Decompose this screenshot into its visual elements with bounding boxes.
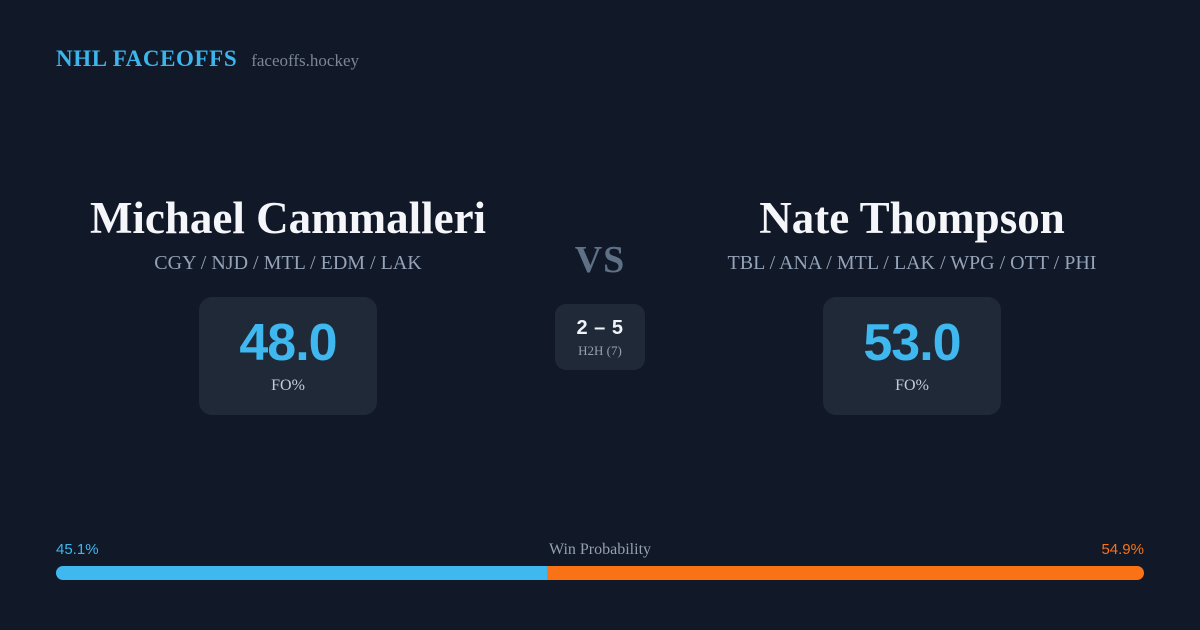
brand-title: NHL FACEOFFS xyxy=(56,46,237,72)
head-to-head-label: H2H (7) xyxy=(578,343,622,359)
matchup-center: VS 2 – 5 H2H (7) xyxy=(500,190,700,370)
vs-label: VS xyxy=(500,237,700,283)
stat-value-right: 53.0 xyxy=(863,316,960,370)
win-probability-bar-left-segment xyxy=(56,566,547,580)
player-name-left: Michael Cammalleri xyxy=(48,190,528,246)
player-teams-left: CGY / NJD / MTL / EDM / LAK xyxy=(48,250,528,276)
player-card-right: Nate Thompson TBL / ANA / MTL / LAK / WP… xyxy=(672,190,1152,415)
win-probability-section: 45.1% Win Probability 54.9% xyxy=(56,540,1144,580)
stat-label-left: FO% xyxy=(271,376,305,396)
win-probability-title: Win Probability xyxy=(549,540,651,560)
stat-label-right: FO% xyxy=(895,376,929,396)
win-probability-labels: 45.1% Win Probability 54.9% xyxy=(56,540,1144,560)
player-name-right: Nate Thompson xyxy=(672,190,1152,246)
head-to-head-box: 2 – 5 H2H (7) xyxy=(555,304,645,370)
win-probability-bar-right-segment xyxy=(547,566,1144,580)
stat-value-left: 48.0 xyxy=(239,316,336,370)
site-header: NHL FACEOFFS faceoffs.hockey xyxy=(56,46,359,72)
stat-box-right: 53.0 FO% xyxy=(823,297,1001,415)
win-probability-bar xyxy=(56,566,1144,580)
matchup-section: Michael Cammalleri CGY / NJD / MTL / EDM… xyxy=(0,190,1200,430)
head-to-head-score: 2 – 5 xyxy=(577,316,624,340)
player-teams-right: TBL / ANA / MTL / LAK / WPG / OTT / PHI xyxy=(672,250,1152,276)
win-probability-right-pct: 54.9% xyxy=(1101,540,1144,560)
player-card-left: Michael Cammalleri CGY / NJD / MTL / EDM… xyxy=(48,190,528,415)
win-probability-left-pct: 45.1% xyxy=(56,540,99,560)
stat-box-left: 48.0 FO% xyxy=(199,297,377,415)
brand-domain: faceoffs.hockey xyxy=(251,51,359,71)
